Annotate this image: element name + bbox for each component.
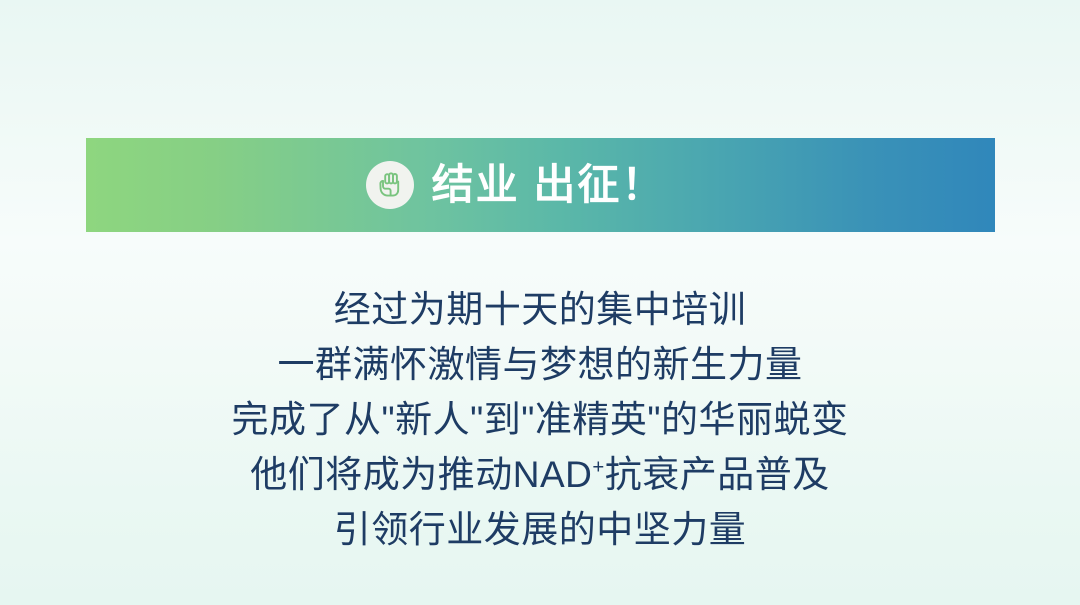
- copy-line-1: 经过为期十天的集中培训: [0, 282, 1080, 337]
- poster-canvas: 结业 出征！ 经过为期十天的集中培训 一群满怀激情与梦想的新生力量 完成了从"新…: [0, 0, 1080, 605]
- copy-line-5: 引领行业发展的中坚力量: [0, 502, 1080, 557]
- body-copy: 经过为期十天的集中培训 一群满怀激情与梦想的新生力量 完成了从"新人"到"准精英…: [0, 282, 1080, 557]
- banner-title: 结业 出征！: [432, 164, 666, 206]
- copy-line-2: 一群满怀激情与梦想的新生力量: [0, 337, 1080, 392]
- raised-fist-icon: [366, 161, 414, 209]
- headline-banner: 结业 出征！: [86, 138, 995, 232]
- banner-content: 结业 出征！: [366, 161, 666, 209]
- copy-line-3: 完成了从"新人"到"准精英"的华丽蜕变: [0, 392, 1080, 447]
- nad-plus-superscript: +: [592, 457, 604, 479]
- copy-line-4-tail: 抗衰产品普及: [605, 454, 830, 495]
- copy-line-4: 他们将成为推动NAD+抗衰产品普及: [0, 447, 1080, 502]
- copy-line-4-head: 他们将成为推动NAD: [250, 454, 592, 495]
